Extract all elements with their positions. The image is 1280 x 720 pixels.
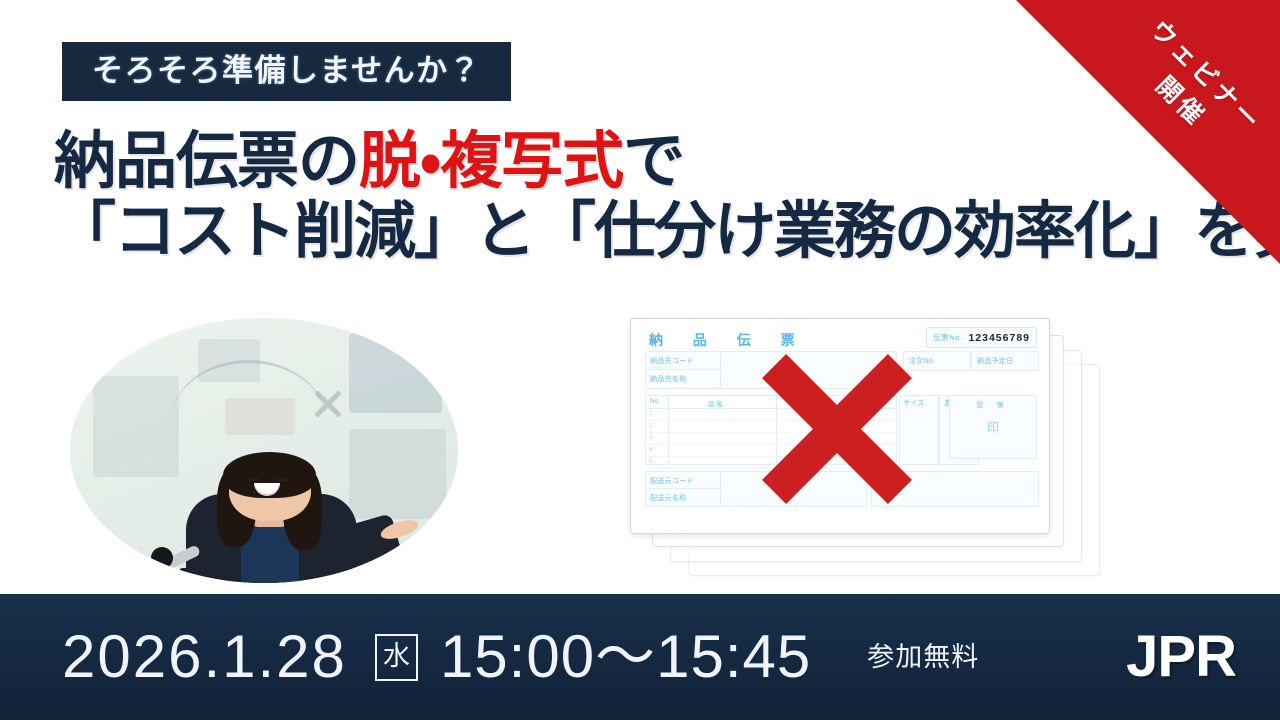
webinar-banner: ウェビナー 開催 そろそろ準備しませんか？ 納品伝票の脱・複写式で 「コスト削減… [0, 0, 1280, 720]
ribbon-line-1: ウェビナー [1145, 15, 1267, 137]
slip-src-code-label: 配送元コード [650, 476, 694, 486]
slip-receipt-label: 受 領 [977, 399, 1010, 409]
presenter-photo [70, 318, 458, 583]
tagline-badge: そろそろ準備しませんか？ [62, 42, 511, 101]
slip-seal-mark: 印 [987, 419, 999, 436]
screen-x-icon [311, 387, 345, 421]
tagline-badge-text: そろそろ準備しませんか？ [92, 55, 481, 86]
event-day-of-week: 水 [375, 634, 418, 681]
headline-line-1-part-c: で [623, 127, 684, 196]
delivery-slip-illustration: 納 品 伝 票 伝票No. 123456789 納品先コード 納品先名称 注文N… [630, 318, 1100, 586]
event-price: 参加無料 [867, 644, 979, 671]
slip-receipt-seal-box: 受 領 印 [949, 395, 1037, 459]
slip-number-value: 123456789 [968, 332, 1030, 344]
red-x-icon [748, 340, 926, 518]
presenter-eye-right [276, 478, 288, 481]
jpr-logo: JPR [1126, 628, 1236, 686]
presenter-eye-left [247, 478, 259, 481]
slip-number-label: 伝票No. [933, 332, 962, 343]
microphone [144, 530, 222, 579]
headline-line-1-part-a: 納品伝票の [54, 127, 359, 196]
slip-dest-name-label: 納品先名称 [650, 374, 687, 384]
presenter-figure [70, 419, 458, 583]
event-date: 2026.1.28 [62, 627, 347, 687]
headline-line-2: 「コスト削減」と「仕分け業務の効率化」を実現 [54, 200, 1280, 264]
slip-number-field: 伝票No. 123456789 [926, 327, 1037, 348]
headline-line-1-highlight: 脱・複写式 [359, 127, 623, 196]
headline-line-1: 納品伝票の脱・複写式で [54, 130, 1280, 194]
event-info-bar: 2026.1.28 水 15:00〜15:45 参加無料 JPR [0, 594, 1280, 720]
event-time: 15:00〜15:45 [440, 627, 811, 687]
page-title: 納品伝票の脱・複写式で 「コスト削減」と「仕分け業務の効率化」を実現 [54, 130, 1280, 265]
screen-panel [349, 334, 442, 414]
slip-dest-code-label: 納品先コード [650, 356, 694, 366]
slip-delivery-date-label: 納品予定日 [977, 356, 1014, 366]
slip-src-name-label: 配送元名称 [650, 493, 687, 503]
